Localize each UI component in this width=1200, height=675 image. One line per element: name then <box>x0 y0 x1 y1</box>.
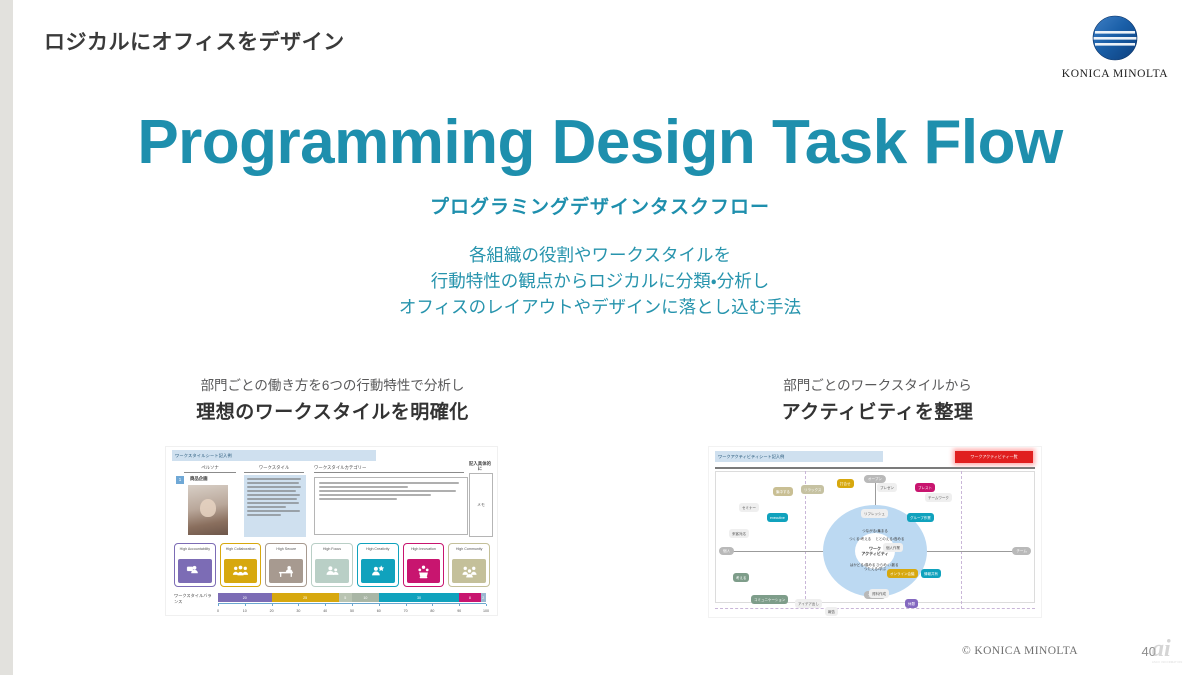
bar-segment-2: 25 <box>272 593 339 602</box>
axis-tick <box>245 604 246 606</box>
ai-watermark-icon: ai ASCII INFORMATION <box>1152 637 1188 667</box>
innovation-icon <box>407 559 441 583</box>
bar-segment-5: 30 <box>379 593 459 602</box>
page-subtitle: プログラミングデザインタスクフロー <box>0 192 1200 219</box>
bar-axis-ticks: 0102030405060708090100 <box>218 609 486 615</box>
axis-tick-label: 0 <box>217 609 219 613</box>
behaviour-card-label: High Creativity <box>358 544 398 554</box>
behaviour-card-label: High Community <box>449 544 489 554</box>
axis-tick-label: 90 <box>457 609 461 613</box>
axis-tick-label: 20 <box>270 609 274 613</box>
center-label-line2: アクティビティ <box>861 551 888 556</box>
watermark-text: ai <box>1152 637 1188 661</box>
axis-tick <box>432 604 433 606</box>
activity-box-6: セミナー <box>739 503 759 512</box>
worksheet-col-style: ワークスタイル <box>244 465 304 473</box>
worksheet-row-badge: 1 <box>176 476 184 484</box>
desk-work-icon <box>269 559 303 583</box>
activity-segment-6: ひらめく・創る <box>876 563 898 567</box>
activity-segment-4: ととのえる・高める <box>875 537 904 541</box>
activity-box-9: 来客対応 <box>729 529 749 538</box>
activity-box-2: リラックス <box>801 485 824 494</box>
focus-person-icon <box>315 559 349 583</box>
community-icon <box>452 559 486 583</box>
activity-box-15: 考える <box>733 573 749 582</box>
activity-map-center-label: ワーク アクティビティ <box>861 546 888 556</box>
activity-box-8: リフレッシュ <box>861 509 888 518</box>
axis-tick <box>325 604 326 606</box>
axis-tick <box>352 604 353 606</box>
axis-tick-label: 80 <box>430 609 434 613</box>
axis-tick-label: 30 <box>296 609 300 613</box>
activity-box-19: アイデア出し <box>795 599 822 608</box>
activity-box-4: プレゼン <box>877 483 897 492</box>
worksheet-category-lines <box>315 478 467 500</box>
activity-box-5: ブレスト <box>915 483 935 492</box>
activity-box-3: 打合せ <box>837 479 854 488</box>
activity-box-20: 報告 <box>825 607 838 616</box>
lead-line-2: 行動特性の観点からロジカルに分類・分析し <box>0 268 1200 294</box>
activity-box-7: executive <box>767 513 788 522</box>
worksheet-style-lines <box>244 475 306 516</box>
behaviour-card-1: High Accountability <box>174 543 216 587</box>
behaviour-card-7: High Community <box>448 543 490 587</box>
worksheet-note-box: メモ <box>469 473 493 537</box>
axis-tick-label: 70 <box>404 609 408 613</box>
lead-line-3: オフィスのレイアウトやデザインに落とし込む手法 <box>0 294 1200 320</box>
bar-segment-6: 8 <box>459 593 480 602</box>
team-group-icon <box>224 559 258 583</box>
activity-map-band-title: ワークアクティビティシート記入例 <box>715 451 883 462</box>
activity-segment-1: つながる・集まる <box>862 529 888 533</box>
behaviour-card-2: High Collaboration <box>220 543 262 587</box>
activity-segment-5: はかどる・進める <box>850 563 876 567</box>
activity-map-band: ワークアクティビティシート記入例 <box>715 451 883 462</box>
axis-tick <box>406 604 407 606</box>
activity-box-16: コミュニケーション <box>751 595 788 604</box>
activity-box-18: 休憩 <box>905 599 918 608</box>
behaviour-card-label: High Focus <box>312 544 352 554</box>
axis-tick-label: 100 <box>483 609 489 613</box>
worksheet-col-note: 記入具体的に <box>469 461 491 472</box>
bar-chart-label: ワークスタイルバランス <box>174 593 214 605</box>
footer-copyright: © KONICA MINOLTA <box>962 645 1078 657</box>
bar-segment-3: 5 <box>339 593 352 602</box>
activity-map-rule <box>715 467 1035 469</box>
brand-logo-text: KONICA MINOLTA <box>1052 68 1178 80</box>
bar-segment-4: 10 <box>352 593 379 602</box>
behaviour-card-6: High Innovation <box>403 543 445 587</box>
stacked-bar: 20255103082 <box>218 593 486 602</box>
activity-box-17: 資料作成 <box>869 589 889 598</box>
worksheet-band: ワークスタイルシート記入例 <box>172 450 376 461</box>
activity-box-12: チームワーク <box>925 493 952 502</box>
activity-box-1: 集中する <box>773 487 793 496</box>
bar-segment-7: 2 <box>481 593 486 602</box>
brand-logo: KONICA MINOLTA <box>1052 12 1178 80</box>
axis-tick <box>379 604 380 606</box>
activity-box-13: オンライン会議 <box>887 569 918 578</box>
axis-tick-label: 10 <box>243 609 247 613</box>
panel-right-caption: アクティビティを整理 <box>705 397 1050 424</box>
behaviour-card-row: High AccountabilityHigh CollaborationHig… <box>174 543 490 587</box>
bar-segment-1: 20 <box>218 593 272 602</box>
behaviour-card-label: High Innovation <box>404 544 444 554</box>
panel-caption-right: 部門ごとのワークスタイルから アクティビティを整理 <box>705 374 1050 424</box>
panel-right-subcaption: 部門ごとのワークスタイルから <box>705 374 1050 394</box>
page-title: Programming Design Task Flow <box>0 112 1200 174</box>
axis-tick <box>272 604 273 606</box>
axis-pill-left: 個人 <box>719 547 734 555</box>
worksheet-note-text: メモ <box>470 502 492 508</box>
worksheet-category-text <box>314 477 468 535</box>
axis-tick <box>298 604 299 606</box>
panel-caption-left: 部門ごとの働き方を6つの行動特性で分析し 理想のワークスタイルを明確化 <box>160 374 505 424</box>
worksheet-col-persona: ペルソナ <box>184 465 236 473</box>
konica-minolta-globe-icon <box>1089 12 1141 64</box>
axis-tick-label: 50 <box>350 609 354 613</box>
person-chat-icon <box>178 559 212 583</box>
axis-tick-label: 60 <box>377 609 381 613</box>
axis-tick <box>486 604 487 606</box>
bar-chart: 20255103082 0102030405060708090100 Funct… <box>218 593 486 616</box>
activity-box-10: グループ作業 <box>907 513 934 522</box>
activity-map-thumbnail: ワークアクティビティシート記入例 ワークアクティビティ一覧 ワーク アクティビテ… <box>708 446 1042 618</box>
slide-root: ロジカルにオフィスをデザイン KONICA MINOLTA Progr <box>0 0 1200 675</box>
worksheet-person-name: 商品企画 <box>190 476 208 482</box>
behaviour-card-4: High Focus <box>311 543 353 587</box>
axis-tick <box>459 604 460 606</box>
behaviour-card-label: High Accountability <box>175 544 215 554</box>
worksheet-thumbnail: ワークスタイルシート記入例 ペルソナ ワークスタイル ワークスタイルカテゴリー … <box>165 446 498 616</box>
axis-pill-top: オープン <box>864 475 886 483</box>
activity-map-red-banner-text: ワークアクティビティ一覧 <box>955 451 1033 463</box>
activity-map-dash-bottom <box>715 608 1035 609</box>
axis-tick <box>218 604 219 606</box>
behaviour-card-3: High Secure <box>265 543 307 587</box>
axis-pill-right: チーム <box>1012 547 1031 555</box>
lead-paragraph: 各組織の役割やワークスタイルを 行動特性の観点からロジカルに分類・分析し オフィ… <box>0 242 1200 320</box>
activity-segment-3: つくる・考える <box>849 537 871 541</box>
panel-left-caption: 理想のワークスタイルを明確化 <box>160 397 505 424</box>
activity-map-dash-right <box>961 471 962 609</box>
left-edge-band <box>0 0 13 675</box>
lead-line-1: 各組織の役割やワークスタイルを <box>0 242 1200 268</box>
watermark-subtext: ASCII INFORMATION <box>1152 661 1188 664</box>
worksheet-col-category: ワークスタイルカテゴリー <box>314 465 464 473</box>
worksheet-band-title: ワークスタイルシート記入例 <box>172 450 376 461</box>
activity-map-red-banner: ワークアクティビティ一覧 <box>955 451 1033 463</box>
axis-tick-label: 40 <box>323 609 327 613</box>
activity-segment-2: つたえる・学ぶ <box>864 567 886 571</box>
idea-bulb-icon <box>361 559 395 583</box>
worksheet-person-photo <box>188 485 228 535</box>
worksheet-style-text <box>244 475 306 537</box>
behaviour-card-label: High Secure <box>266 544 306 554</box>
panel-left-subcaption: 部門ごとの働き方を6つの行動特性で分析し <box>160 374 505 394</box>
behaviour-card-5: High Creativity <box>357 543 399 587</box>
behaviour-card-label: High Collaboration <box>221 544 261 554</box>
activity-box-14: 情報共有 <box>921 569 941 578</box>
slide-header-title: ロジカルにオフィスをデザイン <box>44 26 345 56</box>
